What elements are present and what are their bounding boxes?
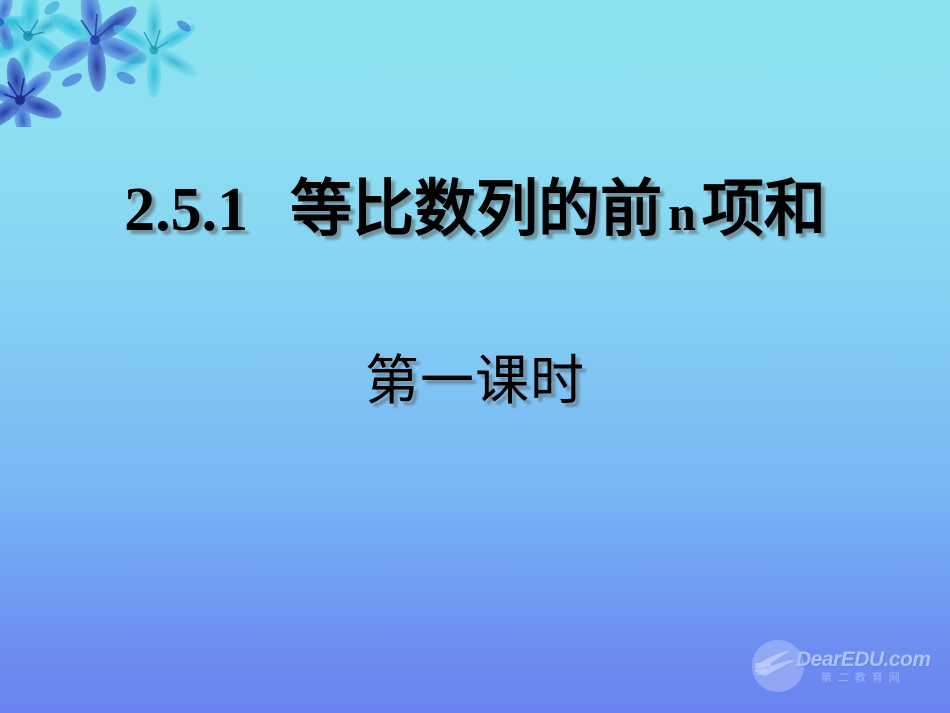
dearedu-logo-icon — [750, 638, 806, 694]
slide-subtitle: 第一课时 — [0, 352, 950, 411]
watermark-text: DearEDU.com 第二教育网 — [796, 649, 931, 684]
slide-title-chinese-after: 项和 — [702, 176, 826, 244]
watermark: DearEDU.com 第二教育网 — [750, 635, 936, 697]
watermark-brand: DearEDU.com — [796, 649, 931, 670]
slide-subtitle-text: 第一课时 — [365, 352, 585, 411]
slide-title-number: 2.5.1 — [124, 176, 248, 244]
presentation-slide: 2.5.1等比数列的前n项和 第一课时 DearEDU.com 第二教育网 — [0, 0, 950, 713]
slide-title-chinese-before: 等比数列的前 — [290, 176, 662, 244]
watercolor-lilies-decoration — [0, 0, 214, 127]
slide-title-text: 2.5.1等比数列的前n项和 — [124, 178, 826, 243]
slide-title-variable-n: n — [662, 185, 702, 241]
watermark-subtitle: 第二教育网 — [796, 673, 931, 684]
slide-title: 2.5.1等比数列的前n项和 — [0, 178, 950, 243]
